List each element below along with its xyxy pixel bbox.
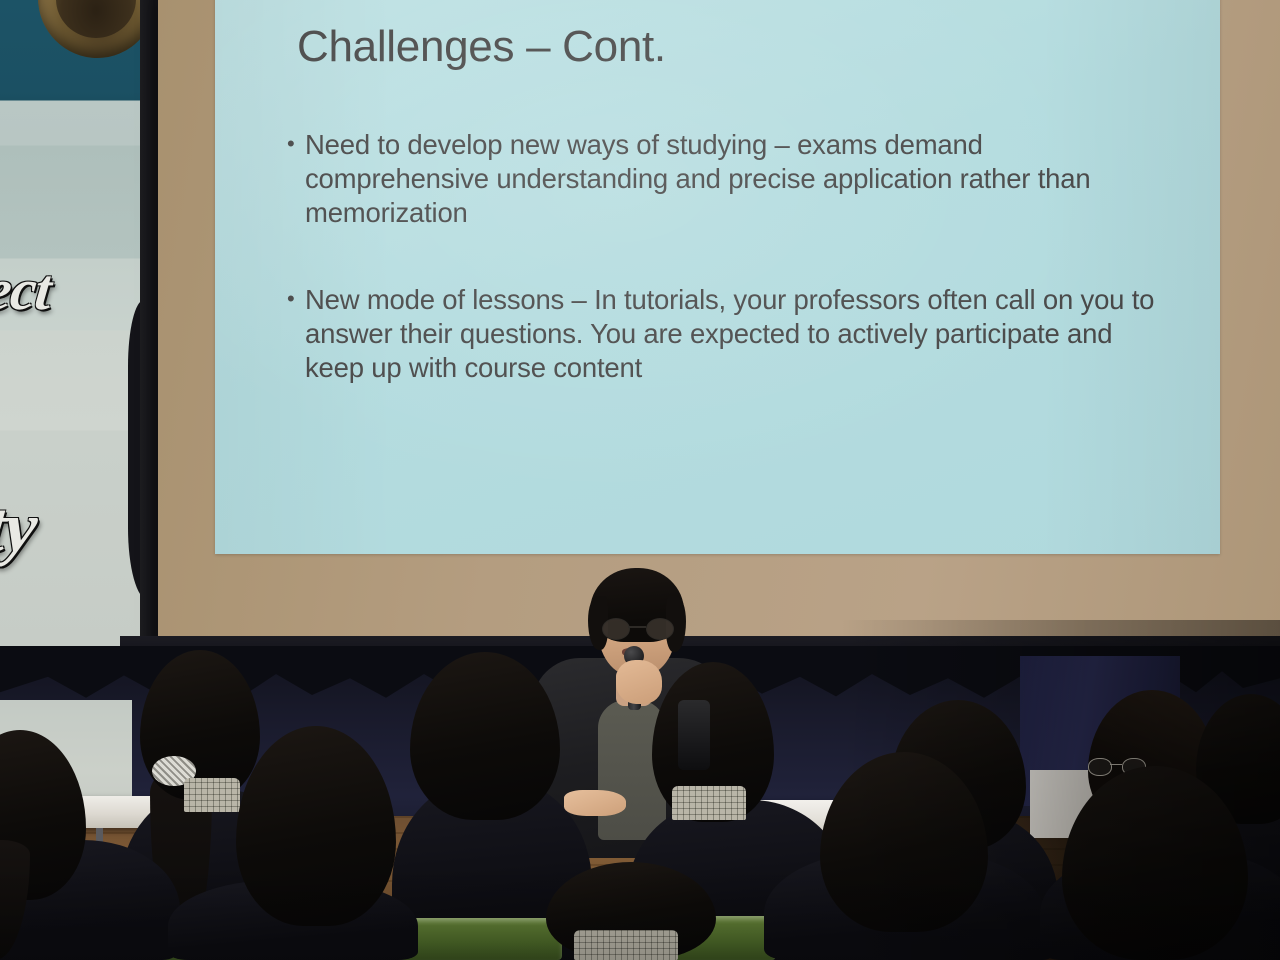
glasses-lens-left — [1088, 758, 1112, 776]
presenter-hand-on-table — [564, 790, 626, 816]
glasses-bridge — [628, 626, 646, 628]
uniform-collar — [184, 778, 240, 812]
hair-clip — [678, 700, 710, 770]
slide-bullet-text: Need to develop new ways of studying – e… — [305, 128, 1167, 229]
slide-title: Challenges – Cont. — [297, 22, 666, 72]
slide-bullet-item: • New mode of lessons – In tutorials, yo… — [287, 283, 1167, 384]
glasses-lens-left — [602, 618, 630, 640]
presenter-hand-holding-mic — [616, 660, 662, 704]
slide-bullet-text: New mode of lessons – In tutorials, your… — [305, 283, 1167, 384]
bullet-dot-icon: • — [287, 128, 305, 229]
uniform-collar — [574, 930, 678, 960]
slide-bullet-list: • Need to develop new ways of studying –… — [287, 128, 1167, 439]
glasses-lens-right — [646, 618, 674, 640]
presenter-glasses-icon — [600, 618, 676, 638]
wall-script-letters-ect: ect — [0, 256, 54, 323]
presentation-slide: Challenges – Cont. • Need to develop new… — [215, 0, 1220, 554]
lecture-hall-photo: ect ty Challenges – Cont. • Need to deve… — [0, 0, 1280, 960]
slide-bullet-item: • Need to develop new ways of studying –… — [287, 128, 1167, 229]
bullet-dot-icon: • — [287, 283, 305, 384]
uniform-collar — [672, 786, 746, 820]
glasses-bridge — [1110, 764, 1122, 765]
